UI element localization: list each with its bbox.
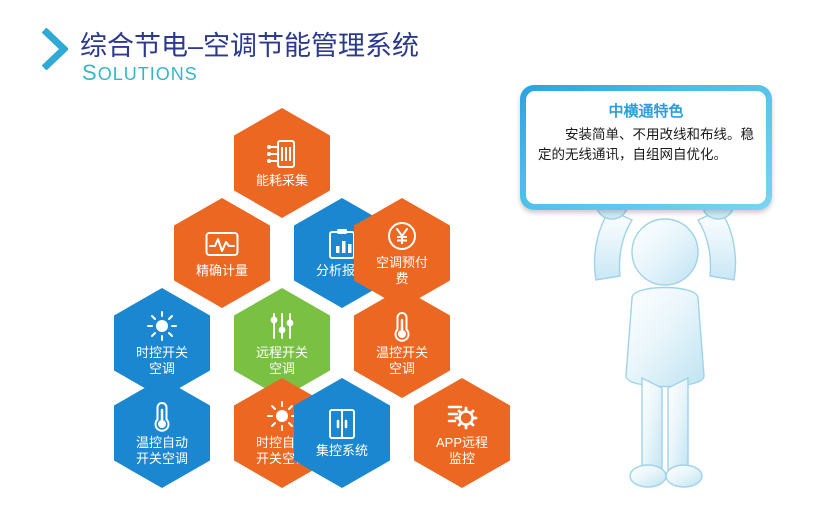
hex-label: APP远程 监控 (430, 435, 494, 467)
waveform-icon (205, 228, 239, 260)
hex-label: 温控开关 空调 (370, 345, 434, 377)
hex-label: 时控开关 空调 (130, 345, 194, 377)
hex-accurate-metering[interactable]: 精确计量 (174, 198, 270, 308)
sun-timer-icon (145, 310, 179, 342)
gear-settings-icon (445, 400, 479, 432)
energy-meter-icon (265, 138, 299, 170)
person-holding-board-illustration (550, 180, 780, 510)
hex-label: 温控自动 开关空调 (130, 435, 194, 467)
hex-label: 远程开关 空调 (250, 345, 314, 377)
chevron-right-icon (42, 28, 68, 70)
yen-arrows-icon (385, 220, 419, 252)
hex-diagram: 能耗采集精确计量分析报表空调预付 费时控开关 空调远程开关 空调温控开关 空调温… (60, 100, 520, 500)
cabinet-icon (325, 408, 359, 440)
thermometer-icon (145, 400, 179, 432)
hex-label: 集控系统 (310, 443, 374, 459)
thermometer-icon (385, 310, 419, 342)
subtitle-capital: S (82, 60, 98, 85)
feature-callout-board: 中横通特色 安装简单、不用改线和布线。稳定的无线通讯，自组网自优化。 (520, 85, 772, 210)
illustration-panel: 中横通特色 安装简单、不用改线和布线。稳定的无线通讯，自组网自优化。 (520, 75, 820, 505)
hex-temp-switch-ac[interactable]: 温控开关 空调 (354, 288, 450, 398)
page-title: 综合节电–空调节能管理系统 (80, 24, 419, 63)
subtitle-rest: OLUTIONS (98, 64, 198, 84)
hex-label: 精确计量 (190, 263, 254, 279)
title-dash: – (188, 31, 203, 61)
hex-label: 能耗采集 (250, 173, 314, 189)
board-body-text: 安装简单、不用改线和布线。稳定的无线通讯，自组网自优化。 (538, 125, 754, 165)
page-subtitle: SOLUTIONS (82, 60, 198, 86)
title-main-part1: 综合节电 (80, 31, 188, 61)
hex-temp-auto-switch-ac[interactable]: 温控自动 开关空调 (114, 378, 210, 488)
clipboard-chart-icon (325, 228, 359, 260)
board-face: 中横通特色 安装简单、不用改线和布线。稳定的无线通讯，自组网自优化。 (526, 91, 766, 204)
board-title: 中横通特色 (538, 100, 754, 121)
title-main-part2: 空调节能管理系统 (203, 31, 419, 61)
sun-timer-icon (265, 400, 299, 432)
hex-app-remote-monitor[interactable]: APP远程 监控 (414, 378, 510, 488)
sliders-icon (265, 310, 299, 342)
hex-label: 空调预付 费 (370, 255, 434, 287)
hex-energy-collection[interactable]: 能耗采集 (234, 108, 330, 218)
